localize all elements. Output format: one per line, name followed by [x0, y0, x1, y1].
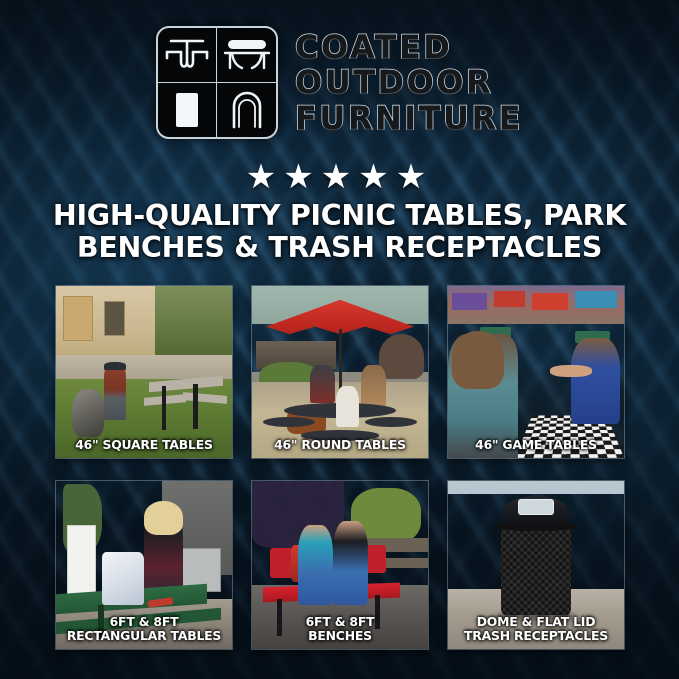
product-photo — [56, 286, 232, 458]
star-rating: ★★★★★ — [0, 160, 679, 194]
caption-line-1: 6FT & 8FT — [60, 615, 228, 629]
product-grid: 46" SQUARE TABLES — [55, 285, 625, 650]
logo-icon-grid — [156, 26, 278, 139]
caption-line-1: 46" ROUND TABLES — [256, 438, 424, 452]
product-caption: DOME & FLAT LID TRASH RECEPTACLES — [448, 615, 624, 643]
product-tile-rectangular-tables[interactable]: 6FT & 8FT RECTANGULAR TABLES — [55, 480, 233, 650]
product-tile-square-tables[interactable]: 46" SQUARE TABLES — [55, 285, 233, 459]
caption-line-1: DOME & FLAT LID — [452, 615, 620, 629]
trash-receptacle-icon — [158, 83, 217, 138]
wordmark-line-3: FURNITURE — [295, 101, 523, 135]
picnic-table-icon — [158, 28, 217, 83]
bike-rack-icon — [217, 83, 276, 138]
headline-line-2: BENCHES & TRASH RECEPTACLES — [28, 232, 651, 264]
brand-logo: COATED OUTDOOR FURNITURE — [0, 26, 679, 139]
page-headline: HIGH-QUALITY PICNIC TABLES, PARK BENCHES… — [28, 200, 651, 264]
product-caption: 46" GAME TABLES — [448, 438, 624, 452]
product-caption: 46" ROUND TABLES — [252, 438, 428, 452]
brand-wordmark: COATED OUTDOOR FURNITURE — [295, 30, 523, 135]
product-tile-trash-receptacles[interactable]: DOME & FLAT LID TRASH RECEPTACLES — [447, 480, 625, 650]
product-caption: 6FT & 8FT BENCHES — [252, 615, 428, 643]
product-photo — [448, 286, 624, 458]
wordmark-line-2: OUTDOOR — [295, 65, 523, 99]
product-photo — [252, 286, 428, 458]
product-caption: 6FT & 8FT RECTANGULAR TABLES — [56, 615, 232, 643]
caption-line-1: 46" SQUARE TABLES — [60, 438, 228, 452]
bench-icon — [217, 28, 276, 83]
wordmark-line-1: COATED — [295, 30, 523, 64]
product-tile-round-tables[interactable]: 46" ROUND TABLES — [251, 285, 429, 459]
caption-line-2: BENCHES — [256, 629, 424, 643]
product-tile-game-tables[interactable]: 46" GAME TABLES — [447, 285, 625, 459]
product-tile-benches[interactable]: 6FT & 8FT BENCHES — [251, 480, 429, 650]
caption-line-1: 46" GAME TABLES — [452, 438, 620, 452]
caption-line-1: 6FT & 8FT — [256, 615, 424, 629]
headline-line-1: HIGH-QUALITY PICNIC TABLES, PARK — [28, 200, 651, 232]
caption-line-2: RECTANGULAR TABLES — [60, 629, 228, 643]
caption-line-2: TRASH RECEPTACLES — [452, 629, 620, 643]
product-caption: 46" SQUARE TABLES — [56, 438, 232, 452]
